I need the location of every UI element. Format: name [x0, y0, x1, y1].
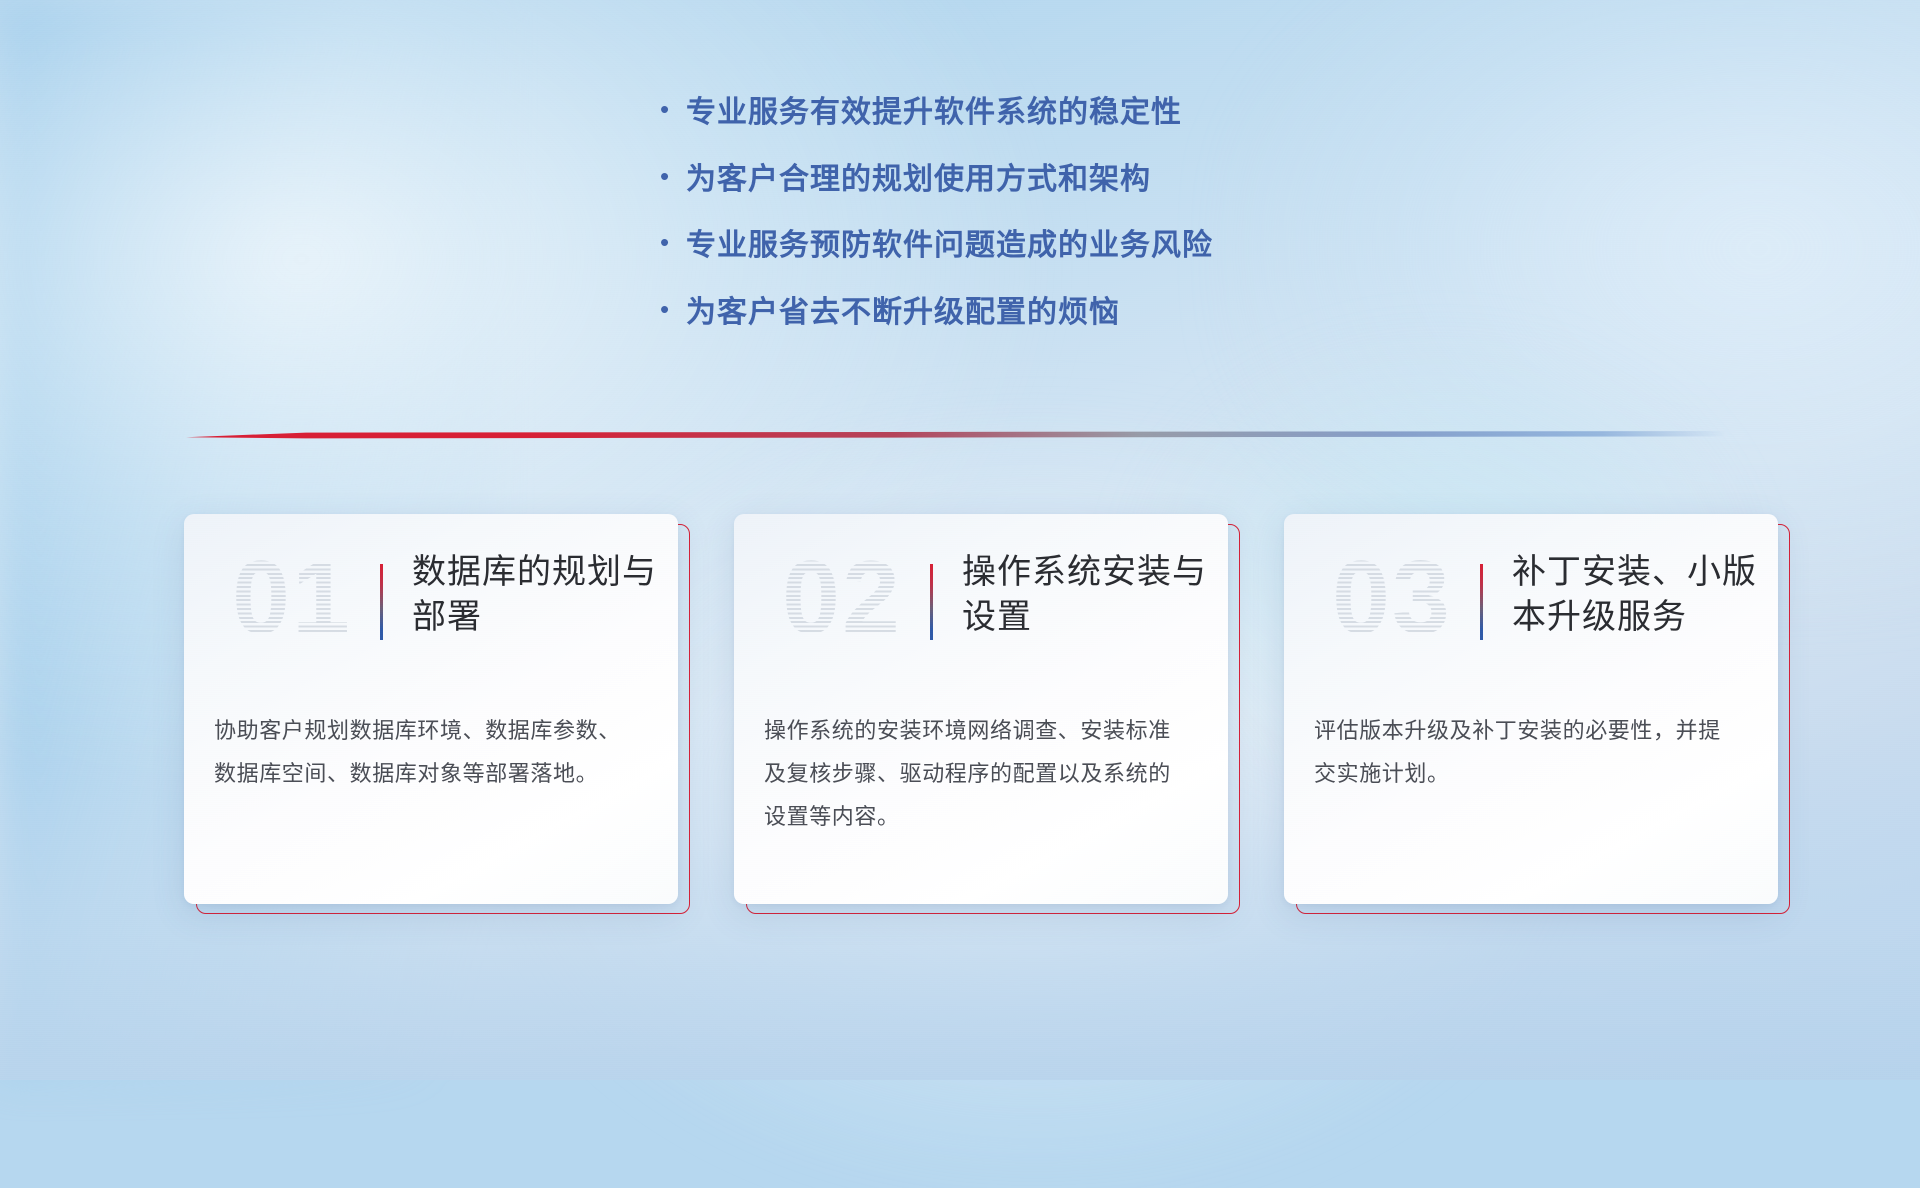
card-header: 02 操作系统安装与设置 [734, 514, 1228, 684]
card-number-watermark: 03 [1312, 542, 1472, 654]
bullet-dot-icon: • [660, 229, 686, 255]
bullet-dot-icon: • [660, 296, 686, 322]
bullet-text: 专业服务有效提升软件系统的稳定性 [686, 96, 1182, 131]
card-surface: 01 数据库的规划与部署 协助客户规划数据库环境、数据库参数、数据库空间、数据库… [184, 514, 678, 904]
card-title: 补丁安装、小版本升级服务 [1512, 550, 1762, 640]
card-number-watermark: 02 [762, 542, 922, 654]
bullet-dot-icon: • [660, 163, 686, 189]
list-item: • 为客户省去不断升级配置的烦恼 [660, 296, 1213, 331]
card-description: 协助客户规划数据库环境、数据库参数、数据库空间、数据库对象等部署落地。 [214, 710, 634, 796]
card-title-rule [380, 564, 383, 640]
card-description: 评估版本升级及补丁安装的必要性，并提交实施计划。 [1314, 710, 1734, 796]
card-number-watermark: 01 [212, 542, 372, 654]
list-item: • 专业服务有效提升软件系统的稳定性 [660, 96, 1213, 131]
card-description: 操作系统的安装环境网络调查、安装标准及复核步骤、驱动程序的配置以及系统的设置等内… [764, 710, 1184, 839]
card-surface: 02 操作系统安装与设置 操作系统的安装环境网络调查、安装标准及复核步骤、驱动程… [734, 514, 1228, 904]
tapered-rule-icon [186, 428, 1726, 444]
bullet-text: 为客户省去不断升级配置的烦恼 [686, 296, 1120, 331]
card-header: 03 补丁安装、小版本升级服务 [1284, 514, 1778, 684]
card-header: 01 数据库的规划与部署 [184, 514, 678, 684]
bullet-text: 专业服务预防软件问题造成的业务风险 [686, 229, 1213, 264]
list-item: • 专业服务预防软件问题造成的业务风险 [660, 229, 1213, 264]
bullet-dot-icon: • [660, 96, 686, 122]
card-title: 数据库的规划与部署 [412, 550, 662, 640]
service-card-row: 01 数据库的规划与部署 协助客户规划数据库环境、数据库参数、数据库空间、数据库… [184, 514, 1778, 904]
card-title-rule [1480, 564, 1483, 640]
section-divider [186, 428, 1726, 444]
bullet-text: 为客户合理的规划使用方式和架构 [686, 163, 1151, 198]
card-title: 操作系统安装与设置 [962, 550, 1212, 640]
service-card[interactable]: 02 操作系统安装与设置 操作系统的安装环境网络调查、安装标准及复核步骤、驱动程… [734, 514, 1228, 904]
list-item: • 为客户合理的规划使用方式和架构 [660, 163, 1213, 198]
service-card[interactable]: 03 补丁安装、小版本升级服务 评估版本升级及补丁安装的必要性，并提交实施计划。 [1284, 514, 1778, 904]
benefits-bullet-list: • 专业服务有效提升软件系统的稳定性 • 为客户合理的规划使用方式和架构 • 专… [660, 96, 1213, 362]
service-card[interactable]: 01 数据库的规划与部署 协助客户规划数据库环境、数据库参数、数据库空间、数据库… [184, 514, 678, 904]
card-title-rule [930, 564, 933, 640]
card-surface: 03 补丁安装、小版本升级服务 评估版本升级及补丁安装的必要性，并提交实施计划。 [1284, 514, 1778, 904]
